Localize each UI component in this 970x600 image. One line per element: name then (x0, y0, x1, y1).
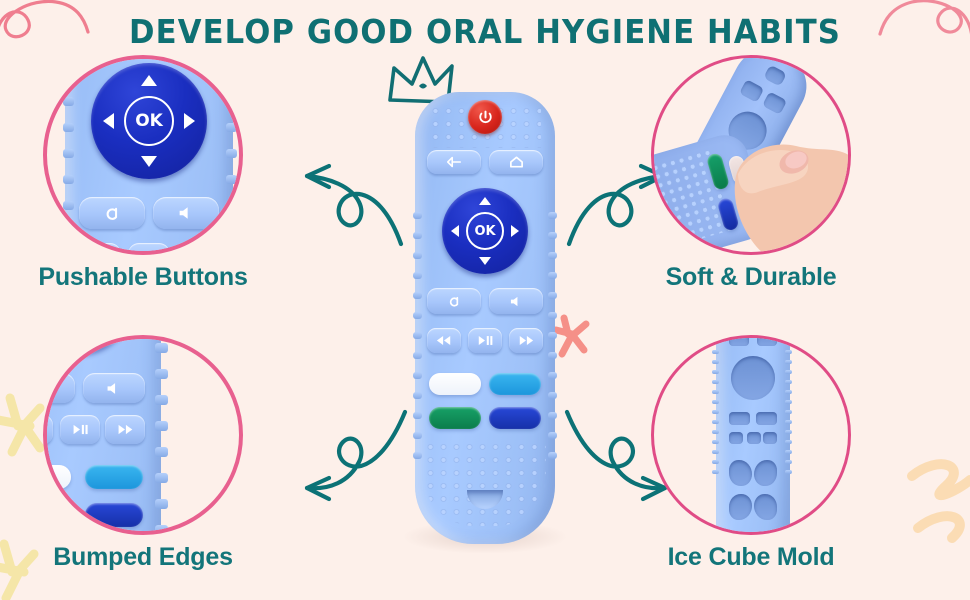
power-icon (477, 109, 494, 126)
edge-rewind-button (43, 415, 53, 444)
closeup-dpad: OK (91, 63, 207, 179)
color-pill-green[interactable] (429, 407, 481, 429)
mold-hanging-hole (743, 534, 763, 535)
closeup-dpad-left-icon (103, 113, 114, 129)
arrow-bottom-left-doodle (285, 400, 410, 510)
closeup-rotate-button (79, 197, 145, 229)
closeup-dpad-right-icon (184, 113, 195, 129)
infographic-canvas: DEVELOP GOOD ORAL HYGIENE HABITS (0, 0, 970, 600)
mold-cavity-back (729, 335, 749, 346)
mold-cavity-forward (763, 432, 777, 444)
feature-circle-soft (651, 55, 851, 255)
arrow-top-left-doodle (285, 140, 405, 250)
mold-cavity-rewind (729, 432, 743, 444)
mold-cavity-shape-4 (754, 494, 777, 520)
closeup-rotate-icon (103, 204, 122, 223)
edge-pill-green (43, 503, 71, 527)
power-button[interactable] (468, 100, 502, 134)
mold-cavity-dpad (731, 356, 775, 400)
home-button[interactable] (489, 150, 543, 174)
closeup-forward-icon (189, 253, 208, 256)
edge-dpad-down-icon (71, 335, 87, 342)
edge-rotate-button (43, 373, 75, 403)
closeup-rewind-button (79, 243, 121, 255)
color-pill-lightblue[interactable] (489, 373, 541, 395)
feature-circle-bumped: OK (43, 335, 243, 535)
closeup-forward-button (177, 243, 219, 255)
closeup-play-button (128, 243, 170, 255)
feature-caption-pushable: Pushable Buttons (28, 263, 258, 292)
left-edge-ridges (413, 92, 422, 544)
edge-rotate-icon (43, 379, 53, 397)
closeup-right-ridges (226, 55, 235, 255)
mold-cavity-shape-1 (729, 460, 752, 486)
closeup-dpad-down-icon (141, 156, 157, 167)
dpad-down-icon[interactable] (479, 257, 491, 265)
edge-pill-darkblue (85, 503, 143, 527)
edge-play-button (60, 415, 100, 444)
right-edge-ridges (548, 92, 557, 544)
feature-caption-bumped: Bumped Edges (28, 543, 258, 572)
feature-circle-ice (651, 335, 851, 535)
bottom-dot-texture (424, 442, 546, 526)
back-cavity-round-top (763, 65, 787, 87)
product-remote-front: OK (415, 92, 555, 544)
dpad-control[interactable]: OK (442, 188, 528, 274)
hand-illustration (716, 102, 851, 255)
closeup-speaker-icon (177, 205, 196, 221)
edge-pill-lightblue (85, 465, 143, 489)
rotate-icon (447, 294, 462, 309)
play-pause-icon (477, 335, 493, 346)
mold-cavity-shape-3 (729, 494, 752, 520)
mold-cavity-home (757, 335, 777, 346)
closeup-play-pause-icon (140, 253, 159, 256)
mold-cavity-rotate (729, 412, 750, 425)
closeup-left-ridges (63, 55, 72, 255)
feature-caption-soft: Soft & Durable (636, 263, 866, 292)
feature-bumped-edges: OK (28, 335, 258, 572)
speaker-icon (509, 295, 524, 308)
dpad-up-icon[interactable] (479, 197, 491, 205)
edge-pill-white (43, 465, 71, 489)
mold-right-ridges (785, 335, 794, 535)
mold-cavity-volume (756, 412, 777, 425)
feature-pushable-buttons: OK (28, 55, 258, 292)
home-icon (509, 155, 524, 169)
edge-play-pause-icon (71, 424, 89, 435)
edge-speaker-icon (105, 381, 123, 396)
ok-button[interactable]: OK (466, 212, 504, 250)
edge-forward-icon (116, 424, 134, 435)
feature-caption-ice: Ice Cube Mold (636, 543, 866, 572)
rotate-button[interactable] (427, 288, 481, 314)
edge-closeup-dpad: OK (43, 335, 133, 353)
page-title: DEVELOP GOOD ORAL HYGIENE HABITS (34, 12, 936, 51)
color-pill-darkblue[interactable] (489, 407, 541, 429)
edge-closeup-ridges (155, 335, 164, 535)
dpad-right-icon[interactable] (511, 225, 519, 237)
fast-forward-icon (518, 335, 534, 346)
play-pause-button[interactable] (468, 328, 502, 353)
color-pill-white[interactable] (429, 373, 481, 395)
feature-circle-pushable: OK (43, 55, 243, 255)
zigzag-right-doodle (896, 440, 970, 560)
closeup-dpad-up-icon (141, 75, 157, 86)
edge-volume-button (83, 373, 145, 403)
fast-forward-button[interactable] (509, 328, 543, 353)
dpad-left-icon[interactable] (451, 225, 459, 237)
back-arrow-icon (446, 155, 462, 169)
remote-edge-closeup: OK (43, 335, 161, 535)
mold-cavity-shape-2 (754, 460, 777, 486)
ok-label: OK (474, 224, 495, 239)
feature-ice-cube-mold: Ice Cube Mold (636, 335, 866, 572)
closeup-ok-label: OK (124, 96, 174, 146)
rewind-icon (436, 335, 452, 346)
flower-center-doodle (552, 312, 598, 362)
back-button[interactable] (427, 150, 481, 174)
feature-soft-durable: Soft & Durable (636, 55, 866, 292)
closeup-volume-button (153, 197, 219, 229)
mold-cavity-play (747, 432, 761, 444)
back-cavity-left (739, 79, 764, 103)
edge-forward-button (105, 415, 145, 444)
closeup-rewind-icon (91, 253, 110, 256)
mold-left-ridges (712, 335, 721, 535)
remote-back-mold (716, 335, 790, 535)
rewind-button[interactable] (427, 328, 461, 353)
volume-button[interactable] (489, 288, 543, 314)
remote-closeup-pushable: OK (65, 55, 233, 255)
